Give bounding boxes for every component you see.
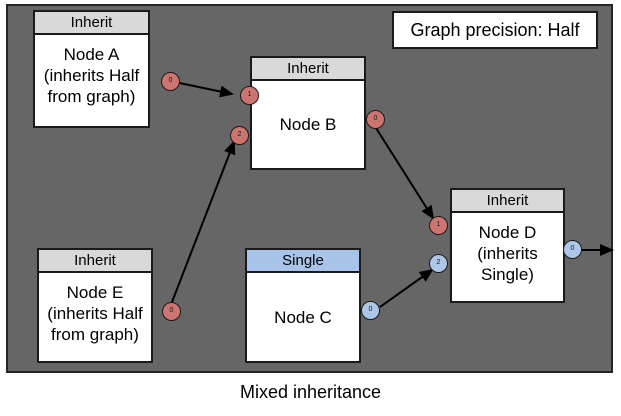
node-a-label: Node A (inherits Half from graph) bbox=[35, 35, 148, 126]
port-c-out-0[interactable]: 0 bbox=[361, 301, 380, 320]
node-b-header: Inherit bbox=[252, 58, 364, 81]
node-d-label: Node D (inherits Single) bbox=[452, 213, 563, 301]
node-e-label: Node E (inherits Half from graph) bbox=[39, 273, 151, 361]
node-e-box[interactable]: InheritNode E (inherits Half from graph) bbox=[37, 248, 153, 363]
node-e-header: Inherit bbox=[39, 250, 151, 273]
node-a-box[interactable]: InheritNode A (inherits Half from graph) bbox=[33, 10, 150, 128]
node-a-header: Inherit bbox=[35, 12, 148, 35]
node-d-box[interactable]: InheritNode D (inherits Single) bbox=[450, 188, 565, 303]
port-a-out-0[interactable]: 0 bbox=[161, 72, 180, 91]
graph-precision-badge: Graph precision: Half bbox=[392, 11, 598, 49]
port-d-out-0[interactable]: 0 bbox=[563, 240, 582, 259]
port-b-in-1[interactable]: 1 bbox=[240, 86, 259, 105]
port-e-out-0[interactable]: 0 bbox=[162, 302, 181, 321]
node-d-header: Inherit bbox=[452, 190, 563, 213]
graph-precision-label: Graph precision: Half bbox=[410, 20, 579, 41]
port-b-out-0[interactable]: 0 bbox=[366, 110, 385, 129]
node-c-box[interactable]: SingleNode C bbox=[245, 248, 361, 363]
port-d-in-1[interactable]: 1 bbox=[429, 216, 448, 235]
node-b-box[interactable]: InheritNode B bbox=[250, 56, 366, 170]
diagram-root: InheritNode A (inherits Half from graph)… bbox=[0, 0, 621, 416]
node-c-header: Single bbox=[247, 250, 359, 273]
port-b-in-2[interactable]: 2 bbox=[230, 126, 249, 145]
node-b-label: Node B bbox=[252, 81, 364, 168]
diagram-caption: Mixed inheritance bbox=[0, 382, 621, 403]
node-c-label: Node C bbox=[247, 273, 359, 361]
port-d-in-2[interactable]: 2 bbox=[429, 254, 448, 273]
